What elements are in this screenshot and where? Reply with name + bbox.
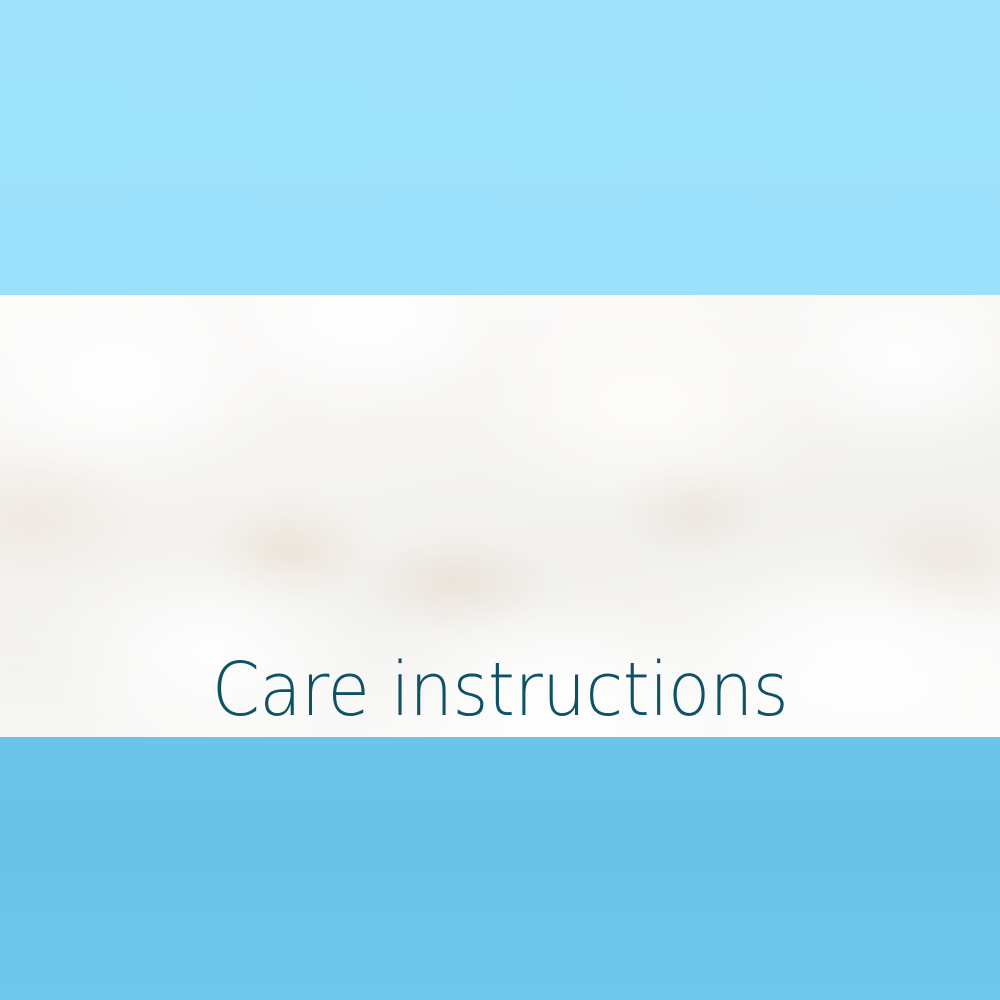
banner-content: Care instructions 40°c Warm machine wash (0, 295, 1000, 737)
lower-blue-band (0, 737, 1000, 1000)
care-instructions-banner: Care instructions 40°c Warm machine wash (0, 295, 1000, 737)
page-root: Care instructions 40°c Warm machine wash (0, 0, 1000, 1000)
page-title: Care instructions (35, 653, 965, 727)
